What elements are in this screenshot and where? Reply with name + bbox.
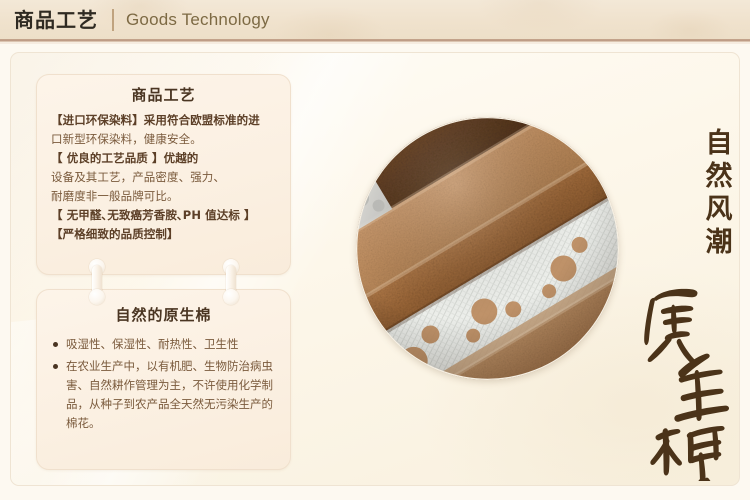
card-text-emphasis: 【严格细致的品质控制】 (51, 227, 179, 241)
card-natural-raw-cotton: 自然的原生棉 吸湿性、保湿性、耐热性、卫生性 在农业生产中，以有机肥、生物防治病… (36, 289, 291, 470)
card-title: 自然的原生棉 (37, 304, 290, 325)
card-text-emphasis: 【 无甲醛､无致癌芳香胺､PH 值达标 】 (51, 208, 256, 222)
product-detail-page: 商品工艺 Goods Technology 商品工艺 【进口环保染料】采用符合欧… (0, 0, 750, 500)
content-panel: 商品工艺 【进口环保染料】采用符合欧盟标准的进 口新型环保染料，健康安全。 【 … (10, 52, 740, 486)
section-header: 商品工艺 Goods Technology (0, 0, 750, 39)
vertical-bar-icon (112, 9, 114, 31)
list-item: 吸湿性、保湿性、耐热性、卫生性 (53, 335, 278, 354)
slogan-char: 自 (699, 127, 739, 160)
slogan-char: 潮 (699, 226, 739, 259)
vertical-slogan: 自 然 风 潮 (699, 127, 739, 259)
card-text-line: 口新型环保染料，健康安全。 (51, 130, 278, 149)
list-item: 在农业生产中，以有机肥、生物防治病虫害、自然耕作管理为主，不许使用化学制品，从种… (53, 357, 278, 433)
card-title: 商品工艺 (37, 84, 290, 105)
card-connector-pin-right (223, 259, 239, 305)
page-title-en: Goods Technology (126, 10, 270, 30)
card-text-emphasis: 【进口环保染料】采用符合欧盟标准的进 (51, 113, 260, 127)
card-text-line: 【 无甲醛､无致癌芳香胺､PH 值达标 】 (51, 206, 278, 225)
page-title-cn: 商品工艺 (14, 10, 98, 30)
header-divider-highlight (0, 42, 750, 44)
product-photo-circle (356, 117, 619, 380)
card-bullet-list: 吸湿性、保湿性、耐热性、卫生性 在农业生产中，以有机肥、生物防治病虫害、自然耕作… (37, 325, 290, 433)
header-title-group: 商品工艺 Goods Technology (14, 0, 270, 39)
slogan-char: 然 (699, 160, 739, 193)
calligraphy-strokes (631, 281, 740, 481)
card-connector-pin-left (89, 259, 105, 305)
card-text-line: 【 优良的工艺品质 】优越的 (51, 149, 278, 168)
card-goods-technology: 商品工艺 【进口环保染料】采用符合欧盟标准的进 口新型环保染料，健康安全。 【 … (36, 74, 291, 275)
slogan-char: 风 (699, 193, 739, 226)
pin-cap-bottom (223, 289, 239, 305)
card-text-line: 设备及其工艺，产品密度、强力、 (51, 168, 278, 187)
card-text-line: 耐磨度非一般品牌可比。 (51, 187, 278, 206)
pin-cap-bottom (89, 289, 105, 305)
towel-fabric-illustration (356, 117, 619, 380)
brush-calligraphy-raw-cotton (631, 281, 740, 481)
card-text-line: 【严格细致的品质控制】 (51, 225, 278, 244)
card-text-emphasis: 【 优良的工艺品质 】优越的 (51, 151, 198, 165)
card-text-line: 【进口环保染料】采用符合欧盟标准的进 (51, 111, 278, 130)
card-body: 【进口环保染料】采用符合欧盟标准的进 口新型环保染料，健康安全。 【 优良的工艺… (37, 105, 290, 244)
